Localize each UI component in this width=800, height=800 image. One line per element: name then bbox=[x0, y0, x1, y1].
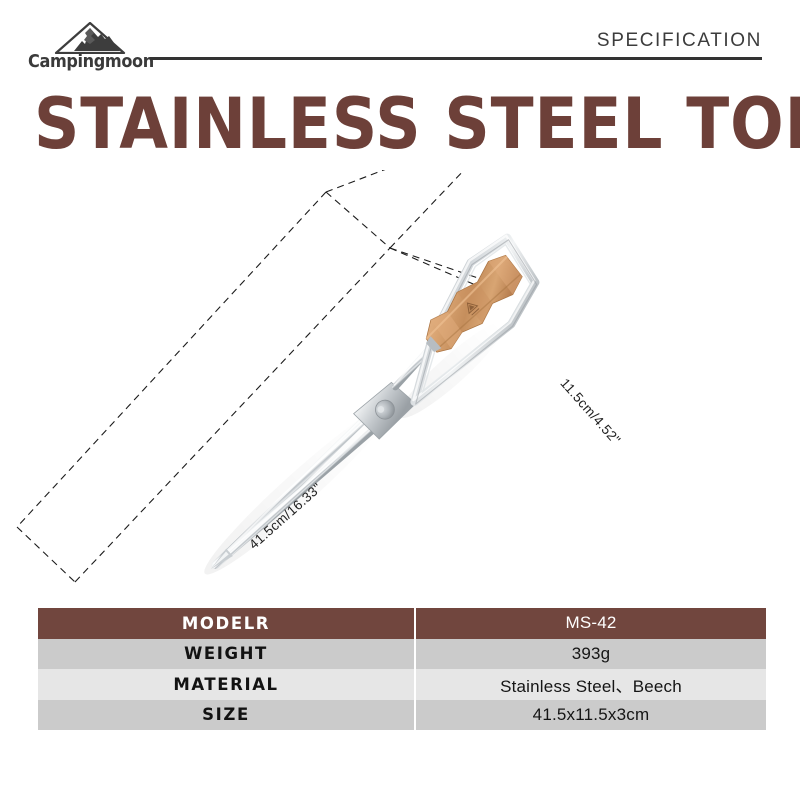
spec-key: MATERIAL bbox=[37, 669, 415, 700]
mountain-icon bbox=[54, 22, 128, 54]
page-title: STAINLESS STEEL TONGS bbox=[34, 88, 700, 160]
spec-value: 393g bbox=[415, 639, 767, 670]
tongs-upper-arm bbox=[214, 418, 380, 568]
spec-value: 41.5x11.5x3cm bbox=[415, 700, 767, 731]
table-row: MODELR MS-42 bbox=[37, 608, 767, 639]
spec-value: MS-42 bbox=[415, 608, 767, 639]
section-label: SPECIFICATION bbox=[597, 30, 762, 52]
product-figure: 41.5cm/16.33" 11.5cm/4.52" bbox=[0, 170, 800, 590]
table-row: MATERIAL Stainless Steel、Beech bbox=[37, 669, 767, 700]
brand-wordmark: Campingmoon bbox=[28, 52, 137, 72]
specification-table: MODELR MS-42 WEIGHT 393g MATERIAL Stainl… bbox=[36, 608, 768, 730]
spec-key: MODELR bbox=[37, 608, 415, 639]
table-row: SIZE 41.5x11.5x3cm bbox=[37, 700, 767, 731]
table-row: WEIGHT 393g bbox=[37, 639, 767, 670]
tongs-body bbox=[173, 231, 554, 585]
tongs-illustration bbox=[0, 170, 800, 590]
header-divider bbox=[150, 57, 762, 60]
spec-key: SIZE bbox=[37, 700, 415, 731]
spec-key: WEIGHT bbox=[37, 639, 415, 670]
brand-logo: Campingmoon bbox=[28, 22, 146, 74]
page-header: Campingmoon SPECIFICATION bbox=[0, 0, 800, 80]
spec-value: Stainless Steel、Beech bbox=[415, 669, 767, 700]
